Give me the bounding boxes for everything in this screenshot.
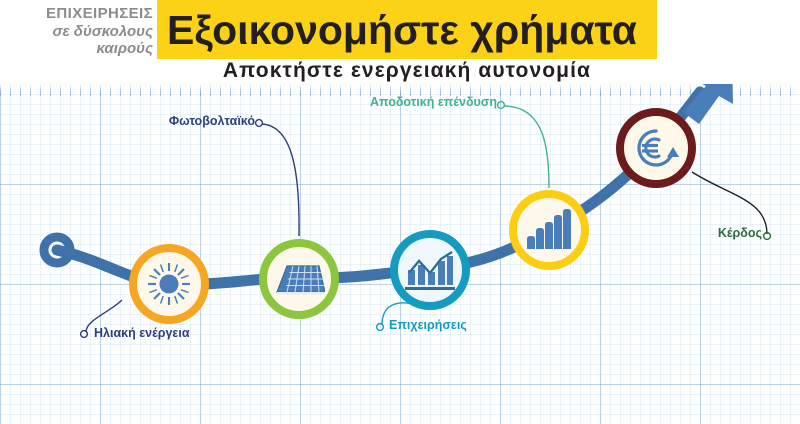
euro-refresh-icon (632, 124, 680, 172)
header-band: ΕΠΙΧΕΙΡΗΣΕΙΣ σε δύσκολους καιρούς Εξοικο… (0, 0, 800, 84)
leader-dot-solar-energy (81, 331, 88, 338)
node-solar-energy[interactable] (129, 244, 209, 324)
solar-panel-icon (273, 258, 325, 300)
infographic-canvas: ΕΠΙΧΕΙΡΗΣΕΙΣ σε δύσκολους καιρούς Εξοικο… (0, 0, 800, 424)
bar-chart-growth-icon (405, 248, 455, 292)
sun-icon (144, 259, 194, 309)
kicker-line-3: καιρούς (8, 40, 153, 58)
label-profit: Κέρδος (718, 226, 762, 240)
leader-profit (692, 172, 767, 234)
leader-dot-efficient-investment (498, 102, 505, 109)
label-solar-energy: Ηλιακή ενέργεια (94, 326, 190, 340)
node-businesses[interactable] (390, 230, 470, 310)
node-efficient-investment[interactable] (509, 190, 589, 270)
node-profit[interactable] (616, 108, 696, 188)
ascending-bars-icon (525, 209, 573, 251)
node-photovoltaic[interactable] (259, 239, 339, 319)
page-subtitle: Αποκτήστε ενεργειακή αυτονομία (157, 59, 657, 83)
kicker-line-2: σε δύσκολους (8, 23, 153, 41)
leader-dot-businesses (377, 324, 384, 331)
kicker-text: ΕΠΙΧΕΙΡΗΣΕΙΣ σε δύσκολους καιρούς (8, 5, 153, 58)
label-businesses: Επιχειρήσεις (389, 318, 467, 332)
page-title: Εξοικονομήστε χρήματα (167, 4, 657, 56)
leader-photovoltaic (262, 124, 299, 236)
label-photovoltaic: Φωτοβολταϊκό (169, 114, 255, 128)
label-efficient-investment: Αποδοτική επένδυση (370, 95, 497, 109)
leader-dot-photovoltaic (256, 120, 263, 127)
kicker-line-1: ΕΠΙΧΕΙΡΗΣΕΙΣ (8, 5, 153, 23)
leader-efficient-investment (504, 106, 549, 188)
